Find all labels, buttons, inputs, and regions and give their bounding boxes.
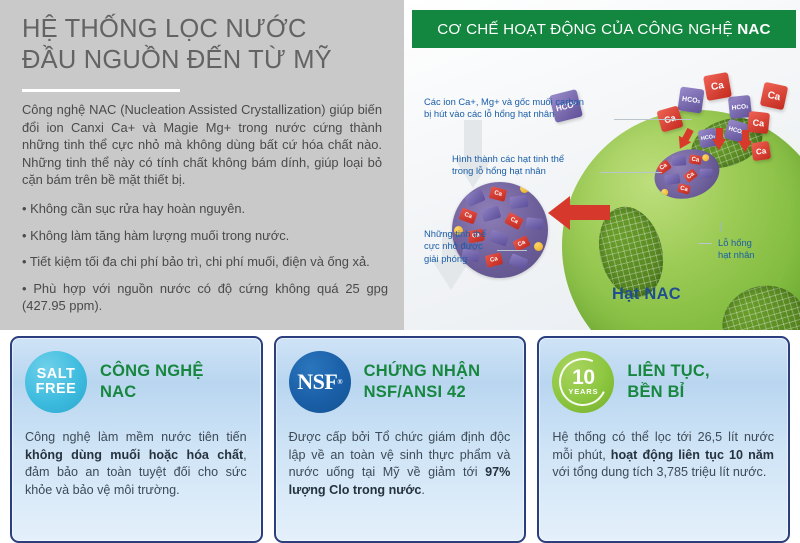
card-body-pre: Công nghệ làm mềm nước tiên tiến — [25, 430, 247, 444]
ion-ca: Ca — [747, 111, 770, 134]
crystal-chip: Ca — [689, 154, 702, 165]
ion-ca: Ca — [703, 72, 732, 101]
leader-line — [497, 250, 527, 251]
crystal-dot — [520, 184, 529, 193]
ion-label: HCO — [682, 95, 698, 104]
card-body: Hệ thống có thể lọc tới 26,5 lít nước mỗ… — [552, 429, 774, 482]
badge-ring — [553, 351, 615, 413]
title-divider — [22, 89, 180, 92]
ion-ca: Ca — [751, 141, 771, 161]
label-pore: Lỗ hổng hạt nhân — [718, 237, 755, 262]
card-header: 10 YEARS LIÊN TỤC, BỀN BỈ — [552, 351, 774, 413]
banner-label: CƠ CHẾ HOẠT ĐỘNG CỦA CÔNG NGHỆ — [437, 21, 737, 38]
feature-card-salt-free[interactable]: SALT FREE CÔNG NGHỆ NAC Công nghệ làm mề… — [10, 336, 263, 543]
diagram-banner-text: CƠ CHẾ HOẠT ĐỘNG CỦA CÔNG NGHỆ NAC — [437, 21, 770, 38]
card-body: Công nghệ làm mềm nước tiên tiến không d… — [25, 429, 247, 499]
card-body: Được cấp bởi Tổ chức giám định độc lập v… — [289, 429, 511, 499]
left-info-panel: HỆ THỐNG LỌC NƯỚC ĐẦU NGUỒN ĐẾN TỪ MỸ Cô… — [0, 0, 404, 330]
feature-card-nsf[interactable]: NSF® CHỨNG NHẬN NSF/ANSI 42 Được cấp bởi… — [274, 336, 527, 543]
crystal-chip: Ca — [485, 252, 503, 268]
crystal-chip — [672, 155, 687, 166]
leader-line — [614, 119, 692, 120]
registered-mark: ® — [337, 378, 342, 386]
crystal-chip — [525, 217, 543, 230]
list-item: • Phù hợp với nguồn nước có độ cứng khôn… — [22, 280, 388, 315]
label-ion-absorption: Các ion Ca+, Mg+ và gốc muối carbon bị h… — [424, 96, 584, 121]
card-header: NSF® CHỨNG NHẬN NSF/ANSI 42 — [289, 351, 511, 413]
card-body-post: . — [421, 483, 425, 497]
infographic-page: HỆ THỐNG LỌC NƯỚC ĐẦU NGUỒN ĐẾN TỪ MỸ Cô… — [0, 0, 800, 543]
banner-label-bold: NAC — [737, 21, 771, 38]
card-title: LIÊN TỤC, BỀN BỈ — [627, 361, 709, 403]
crystal-dot — [660, 188, 669, 197]
ion-subscript: 3 — [697, 98, 700, 103]
crystal-chip — [700, 169, 713, 178]
ion-subscript: 3 — [746, 104, 749, 109]
salt-free-badge-icon: SALT FREE — [25, 351, 87, 413]
badge-line-2: FREE — [36, 382, 77, 397]
card-body-bold: hoạt động liên tục 10 năm — [611, 448, 774, 462]
label-crystal-formation: Hình thành các hạt tinh thể trong lỗ hổn… — [452, 153, 564, 178]
leader-line — [698, 243, 712, 244]
crystal-chip — [509, 195, 528, 209]
crystal-chip: Ca — [683, 168, 698, 182]
page-title: HỆ THỐNG LỌC NƯỚC ĐẦU NGUỒN ĐẾN TỪ MỸ — [22, 14, 388, 76]
ten-years-badge-icon: 10 YEARS — [552, 351, 614, 413]
crystal-chip: Ca — [489, 186, 507, 202]
card-title: CHỨNG NHẬN NSF/ANSI 42 — [364, 361, 481, 403]
crystal-chip: Ca — [677, 183, 691, 195]
card-body-pre: Được cấp bởi Tổ chức giám định độc lập v… — [289, 430, 511, 479]
ion-ca: Ca — [760, 82, 788, 110]
nsf-badge-icon: NSF® — [289, 351, 351, 413]
crystal-chip: Ca — [458, 208, 477, 225]
release-arrow-icon — [548, 196, 610, 230]
leader-line — [600, 172, 662, 173]
card-header: SALT FREE CÔNG NGHỆ NAC — [25, 351, 247, 413]
ion-label: HCO — [731, 103, 746, 111]
ion-hco3: HCO3 — [677, 86, 704, 113]
crystal-chip — [489, 230, 510, 247]
list-item: • Không cần sục rửa hay hoàn nguyên. — [22, 200, 388, 218]
intro-paragraph: Công nghệ NAC (Nucleation Assisted Cryst… — [22, 101, 382, 189]
card-body-post: với tổng dung tích 3,785 triệu lít nước. — [552, 465, 766, 479]
list-item: • Không làm tăng hàm lượng muối trong nư… — [22, 227, 388, 245]
crystal-dot — [701, 153, 710, 162]
diagram-banner: CƠ CHẾ HOẠT ĐỘNG CỦA CÔNG NGHỆ NAC — [412, 10, 796, 48]
feature-cards: SALT FREE CÔNG NGHỆ NAC Công nghệ làm mề… — [0, 336, 800, 543]
label-crystal-release: Những tinh thể cực nhỏ được giải phóng — [424, 228, 486, 265]
benefit-list: • Không cần sục rửa hay hoàn nguyên. • K… — [22, 200, 388, 315]
label-nac-bead: Hạt NAC — [612, 285, 681, 304]
badge-text: NSF — [297, 369, 337, 395]
leader-line — [720, 222, 721, 232]
feature-card-durability[interactable]: 10 YEARS LIÊN TỤC, BỀN BỈ Hệ thống có th… — [537, 336, 790, 543]
badge-line-1: SALT — [37, 367, 76, 382]
crystal-chip — [509, 253, 529, 270]
card-title: CÔNG NGHỆ NAC — [100, 361, 204, 403]
crystal-dot — [534, 242, 543, 251]
crystal-chip — [481, 206, 502, 222]
card-body-bold: không dùng muối hoặc hóa chất — [25, 448, 243, 462]
list-item: • Tiết kiệm tối đa chi phí bảo trì, chi … — [22, 253, 388, 271]
crystal-chip: Ca — [504, 212, 524, 230]
pore-icon — [713, 276, 800, 330]
